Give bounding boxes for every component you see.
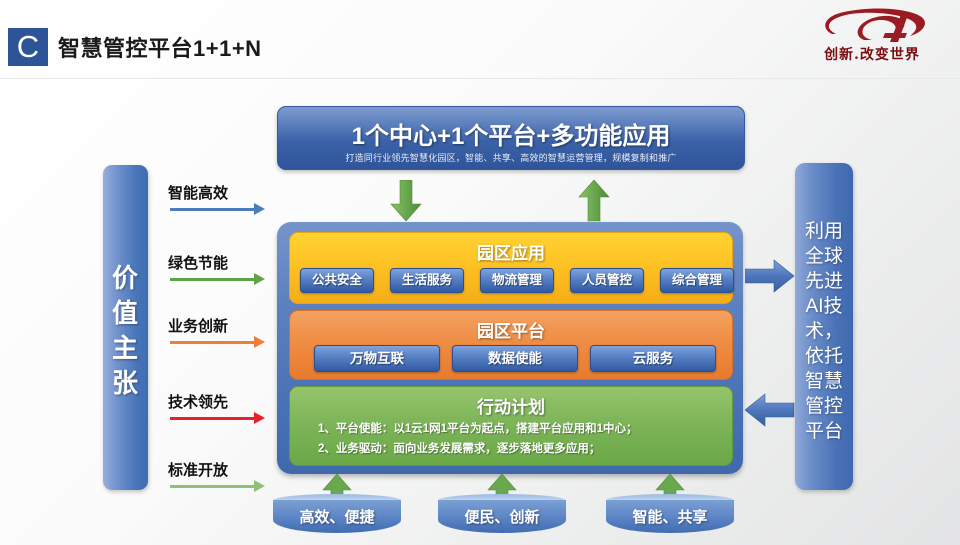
value-arrow-head-2: [254, 336, 265, 348]
applications-title: 园区应用: [290, 239, 732, 264]
action-plan-title: 行动计划: [290, 393, 732, 418]
banner-title: 1个中心+1个平台+多功能应用: [278, 116, 744, 151]
header-badge-icon: C: [8, 28, 48, 66]
value-arrow-1: 绿色节能: [168, 252, 268, 296]
green-up-arrow-icon: [578, 180, 610, 222]
value-arrow-shaft-1: [170, 278, 256, 281]
company-logo: 创新.改变世界: [802, 6, 942, 70]
value-arrow-2: 业务创新: [168, 315, 268, 359]
ai-technology-panel: 利用全球先进AI技术，依托智慧管控平台: [795, 163, 853, 490]
value-arrow-4: 标准开放: [168, 459, 268, 503]
value-arrow-shaft-0: [170, 208, 256, 211]
value-arrow-label-0: 智能高效: [168, 182, 268, 203]
blue-right-arrow-icon: [745, 258, 795, 294]
value-arrow-label-1: 绿色节能: [168, 252, 268, 273]
app-item-1[interactable]: 生活服务: [390, 268, 464, 293]
value-arrow-head-0: [254, 203, 265, 215]
value-arrow-shaft-3: [170, 417, 256, 420]
outcome-cylinder-1[interactable]: 便民、创新: [438, 494, 566, 538]
ai-technology-text: 利用全球先进AI技术，依托智慧管控平台: [804, 219, 844, 444]
platform-band: 园区平台 万物互联 数据使能 云服务: [289, 310, 733, 380]
value-arrow-head-4: [254, 480, 265, 492]
outcome-label-2: 智能、共享: [606, 506, 734, 527]
value-proposition-label: 价值主张: [103, 261, 148, 401]
platform-title: 园区平台: [290, 317, 732, 342]
value-arrow-label-4: 标准开放: [168, 459, 268, 480]
action-plan-band: 行动计划 1、平台使能：以1云1网1平台为起点，搭建平台应用和1中心； 2、业务…: [289, 386, 733, 466]
value-arrow-0: 智能高效: [168, 182, 268, 226]
app-item-0[interactable]: 公共安全: [300, 268, 374, 293]
outcome-label-1: 便民、创新: [438, 506, 566, 527]
action-plan-line-0: 1、平台使能：以1云1网1平台为起点，搭建平台应用和1中心；: [318, 420, 728, 436]
value-proposition-bar: 价值主张: [103, 165, 148, 490]
value-arrow-label-2: 业务创新: [168, 315, 268, 336]
blue-left-arrow-icon: [745, 392, 795, 428]
platform-item-0[interactable]: 万物互联: [314, 345, 440, 372]
green-down-arrow-icon: [390, 180, 422, 222]
value-arrow-shaft-4: [170, 485, 256, 488]
value-arrow-3: 技术领先: [168, 391, 268, 435]
value-arrow-head-1: [254, 273, 265, 285]
outcome-cylinder-2[interactable]: 智能、共享: [606, 494, 734, 538]
applications-band: 园区应用 公共安全 生活服务 物流管理 人员管控 综合管理: [289, 232, 733, 304]
outcome-label-0: 高效、便捷: [273, 506, 401, 527]
slide-canvas: C 智慧管控平台1+1+N 创新.改变世界 1个中心+1个平台+多功能应用 打造…: [0, 0, 960, 545]
platform-item-2[interactable]: 云服务: [590, 345, 716, 372]
app-item-4[interactable]: 综合管理: [660, 268, 734, 293]
logo-caption: 创新.改变世界: [802, 44, 942, 64]
header-divider: [0, 78, 960, 79]
main-banner: 1个中心+1个平台+多功能应用 打造同行业领先智慧化园区，智能、共享、高效的智慧…: [277, 106, 745, 170]
banner-subtitle: 打造同行业领先智慧化园区，智能、共享、高效的智慧运营管理，规模复制和推广: [278, 151, 744, 164]
action-plan-line-1: 2、业务驱动：面向业务发展需求，逐步落地更多应用；: [318, 440, 728, 456]
value-arrow-shaft-2: [170, 341, 256, 344]
value-arrow-label-3: 技术领先: [168, 391, 268, 412]
platform-item-1[interactable]: 数据使能: [452, 345, 578, 372]
page-title: 智慧管控平台1+1+N: [58, 31, 262, 63]
main-architecture-container: 园区应用 公共安全 生活服务 物流管理 人员管控 综合管理 园区平台 万物互联 …: [277, 222, 743, 474]
outcome-cylinder-0[interactable]: 高效、便捷: [273, 494, 401, 538]
value-arrow-head-3: [254, 412, 265, 424]
app-item-3[interactable]: 人员管控: [570, 268, 644, 293]
app-item-2[interactable]: 物流管理: [480, 268, 554, 293]
